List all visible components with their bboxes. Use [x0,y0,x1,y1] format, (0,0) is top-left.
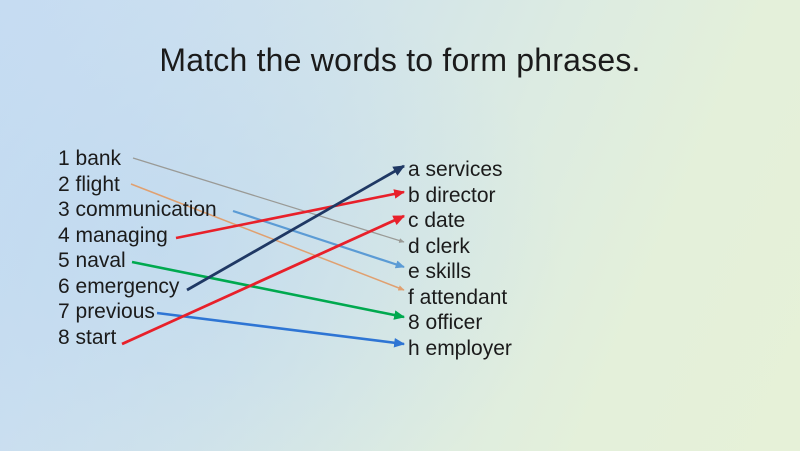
list-item-right-b: b director [408,183,512,209]
list-item-left-7: 7 previous [58,299,217,325]
right-word-column: a services b director c date d clerk e s… [408,157,512,361]
list-item-right-c: c date [408,208,512,234]
page-title: Match the words to form phrases. [0,42,800,79]
list-item-left-5: 5 naval [58,248,217,274]
list-item-right-a: a services [408,157,512,183]
list-item-right-g: 8 officer [408,310,512,336]
list-item-right-d: d clerk [408,234,512,260]
list-item-right-e: e skills [408,259,512,285]
connector-communication-to-skills [233,211,404,267]
list-item-right-h: h employer [408,336,512,362]
list-item-left-6: 6 emergency [58,274,217,300]
list-item-left-2: 2 flight [58,172,217,198]
list-item-left-4: 4 managing [58,223,217,249]
left-word-column: 1 bank 2 flight 3 communication 4 managi… [58,146,217,350]
list-item-left-1: 1 bank [58,146,217,172]
slide-canvas: Match the words to form phrases. 1 bank … [0,0,800,451]
list-item-left-8: 8 start [58,325,217,351]
list-item-left-3: 3 communication [58,197,217,223]
list-item-right-f: f attendant [408,285,512,311]
